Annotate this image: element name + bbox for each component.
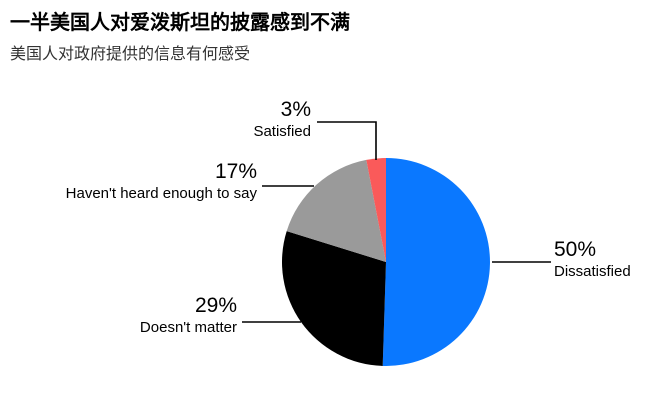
page-subtitle: 美国人对政府提供的信息有何感受: [10, 44, 250, 66]
callout-havent-heard-value: 17%: [28, 160, 257, 184]
callout-havent-heard: 17% Haven't heard enough to say: [28, 160, 257, 203]
pie-graphic: [282, 158, 490, 366]
callout-dissatisfied: 50% Dissatisfied: [554, 238, 658, 281]
callout-havent-heard-label: Haven't heard enough to say: [28, 184, 257, 203]
callout-doesnt-matter: 29% Doesn't matter: [60, 294, 237, 337]
page-title: 一半美国人对爱泼斯坦的披露感到不满: [10, 10, 350, 36]
pie-slice-dissatisfied[interactable]: [383, 158, 490, 366]
callout-satisfied-label: Satisfied: [156, 122, 311, 141]
pie-chart-figure: 一半美国人对爱泼斯坦的披露感到不满 美国人对政府提供的信息有何感受 3% Sat…: [0, 0, 660, 403]
callout-doesnt-matter-label: Doesn't matter: [60, 318, 237, 337]
callout-satisfied: 3% Satisfied: [156, 98, 311, 141]
callout-satisfied-value: 3%: [156, 98, 311, 122]
pie-svg: [282, 158, 490, 366]
leader-line-satisfied: [317, 122, 376, 160]
callout-doesnt-matter-value: 29%: [60, 294, 237, 318]
callout-dissatisfied-label: Dissatisfied: [554, 262, 658, 281]
callout-dissatisfied-value: 50%: [554, 238, 658, 262]
